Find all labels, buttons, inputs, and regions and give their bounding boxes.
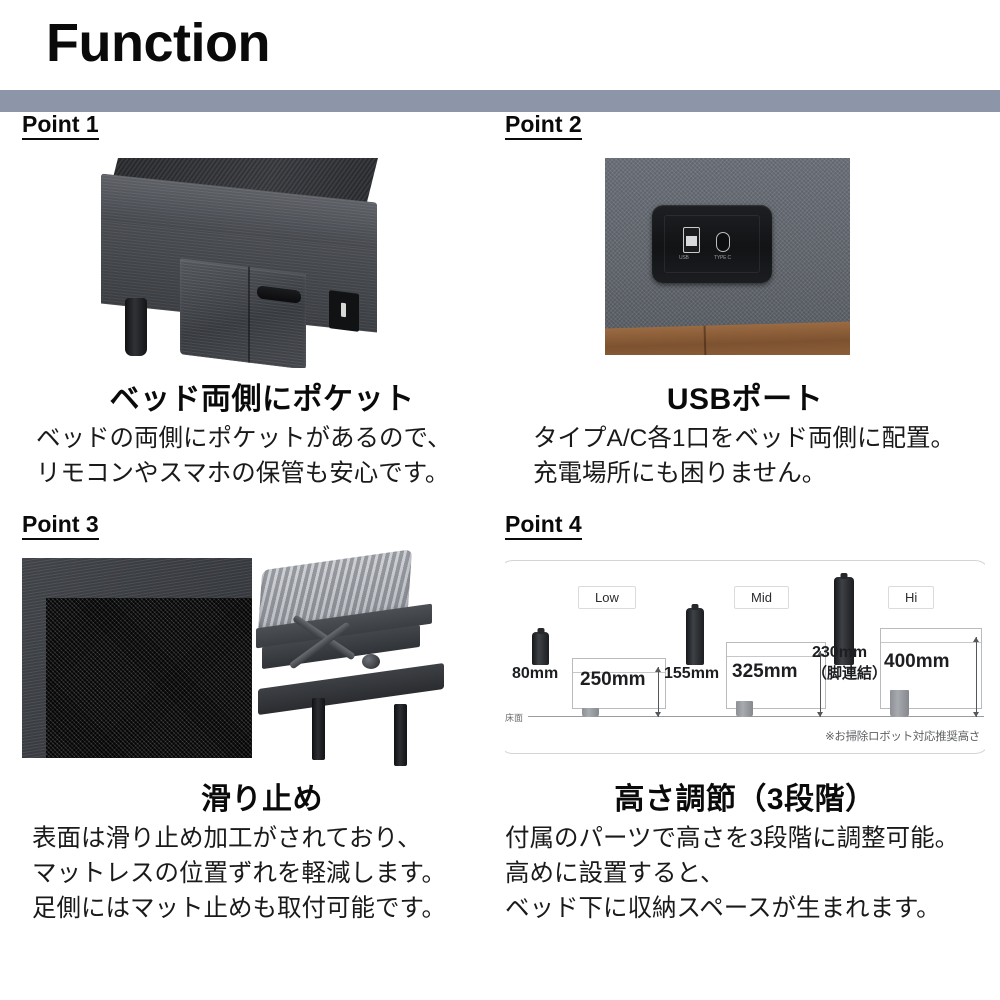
feature-cell-point-2: Point 2 USB TYPE C USBポート タイプA/C各1口をベッド両…	[505, 112, 985, 492]
usb-port-image: USB TYPE C	[605, 158, 850, 355]
point-2-photo: USB TYPE C	[505, 150, 985, 368]
frame-with-mattress-image	[254, 558, 459, 763]
stage-mid-foot	[736, 701, 753, 717]
stage-hi-foot	[890, 690, 909, 717]
point-1-heading: ベッド両側にポケット	[22, 374, 502, 418]
usb-a-label: USB	[679, 255, 689, 261]
frame-leg-2	[394, 704, 407, 766]
stage-hi-leg-height: 230mm （脚連結）	[812, 644, 887, 683]
point-label-4: Point 4	[505, 512, 582, 540]
feature-cell-point-3: Point 3 滑り止め 表面は滑り止め加工がされており、 マットレスの位置ずれ…	[22, 512, 502, 927]
stage-mid-leg-icon	[686, 608, 704, 665]
stage-low-total-height: 250mm	[580, 669, 646, 691]
point-4-figure: 床面 Low 80mm 250mm Mid 155mm	[505, 550, 985, 768]
usb-port-on-frame	[329, 290, 359, 332]
point-2-body-line-2: 充電場所にも困りません。	[533, 457, 985, 492]
point-2-heading: USBポート	[505, 374, 985, 418]
robot-vacuum-note: ※お掃除ロボット対応推奨高さ	[825, 728, 980, 744]
title-divider-bar	[0, 90, 1000, 112]
stage-mid-total-height: 325mm	[732, 661, 798, 683]
point-3-body-line-3: 足側にはマット止めも取付可能です。	[32, 892, 502, 927]
stage-low-tag: Low	[578, 586, 636, 609]
feature-cell-point-4: Point 4 床面 Low 80mm 250mm Mid	[505, 512, 985, 927]
point-1-body-line-2: リモコンやスマホの保管も安心です。	[36, 457, 502, 492]
point-3-heading: 滑り止め	[22, 774, 502, 818]
point-4-heading: 高さ調節（3段階）	[505, 774, 985, 818]
floor-label: 床面	[505, 711, 523, 724]
stage-mid-leg-height: 155mm	[664, 665, 719, 683]
point-4-body: 付属のパーツで高さを3段階に調整可能。 高めに設置すると、 ベッド下に収納スペー…	[505, 822, 985, 926]
anti-slip-surface-image	[22, 558, 252, 758]
point-label-2: Point 2	[505, 112, 582, 140]
stage-low-foot	[582, 708, 599, 717]
stage-hi-total-height: 400mm	[884, 651, 950, 673]
point-1-body-line-1: ベッドの両側にポケットがあるので、	[36, 422, 502, 457]
point-1-body: ベッドの両側にポケットがあるので、 リモコンやスマホの保管も安心です。	[22, 422, 502, 492]
feature-cell-point-1: Point 1 ベッド両側にポケット ベッドの両側にポケットがあるので、 リモコ…	[22, 112, 502, 492]
adjuster-knob	[362, 654, 380, 669]
point-4-body-line-2: 高めに設置すると、	[505, 857, 985, 892]
point-4-body-line-3: ベッド下に収納スペースが生まれます。	[505, 892, 985, 927]
point-1-photo	[22, 150, 502, 368]
usb-panel-inset	[664, 215, 760, 273]
stage-hi-tag: Hi	[888, 586, 934, 609]
wood-floor	[605, 322, 850, 356]
stage-hi-dimension-arrow	[976, 637, 977, 717]
usb-a-port-icon	[683, 227, 700, 253]
usb-c-label: TYPE C	[714, 255, 731, 261]
point-label-3: Point 3	[22, 512, 99, 540]
point-4-body-line-1: 付属のパーツで高さを3段階に調整可能。	[505, 822, 985, 857]
point-3-photo	[22, 550, 502, 768]
stage-hi-leg-note: （脚連結）	[812, 662, 887, 683]
frame-leg-1	[312, 698, 325, 760]
point-2-body: タイプA/C各1口をベッド両側に配置。 充電場所にも困りません。	[505, 422, 985, 492]
usb-panel: USB TYPE C	[652, 205, 772, 283]
stage-hi-leg-height-value: 230mm	[812, 644, 867, 661]
height-adjustment-diagram: 床面 Low 80mm 250mm Mid 155mm	[505, 560, 985, 754]
point-3-body: 表面は滑り止め加工がされており、 マットレスの位置ずれを軽減します。 足側にはマ…	[22, 822, 502, 926]
stage-low-dimension-arrow	[658, 667, 659, 717]
bed-leg	[125, 298, 147, 356]
point-label-1: Point 1	[22, 112, 99, 140]
anti-slip-texture	[46, 598, 252, 758]
stage-low-leg-height: 80mm	[512, 665, 558, 683]
page-title: Function	[46, 16, 270, 70]
point-2-body-line-1: タイプA/C各1口をベッド両側に配置。	[533, 422, 985, 457]
usb-c-port-icon	[716, 232, 730, 252]
frame-base	[258, 663, 444, 715]
bed-pocket-image	[107, 158, 367, 363]
point-3-body-line-2: マットレスの位置ずれを軽減します。	[32, 857, 502, 892]
side-pocket	[180, 259, 306, 369]
stage-mid-tag: Mid	[734, 586, 789, 609]
point-3-body-line-1: 表面は滑り止め加工がされており、	[32, 822, 502, 857]
stage-low-leg-icon	[532, 632, 549, 665]
